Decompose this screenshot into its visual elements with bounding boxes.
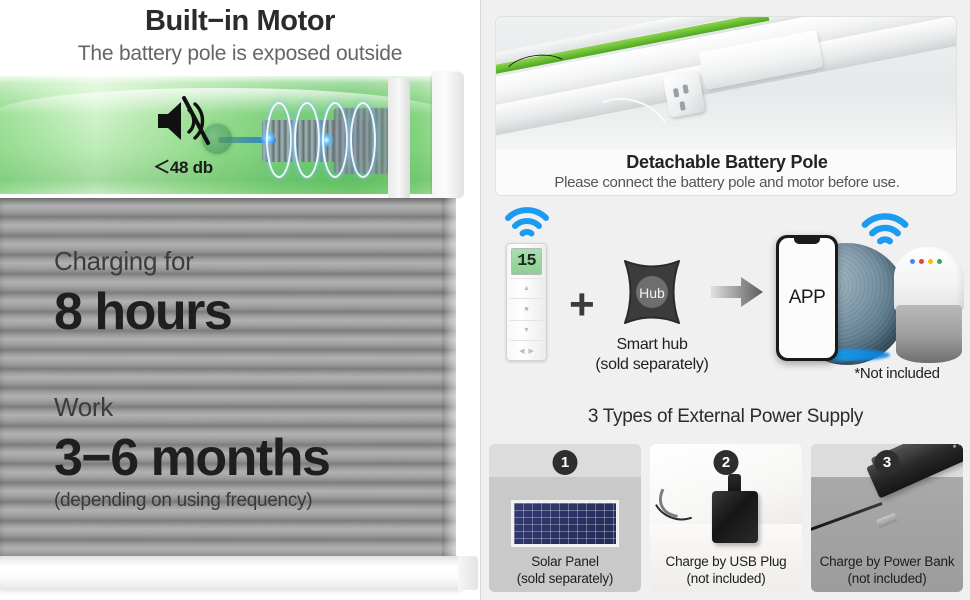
indicator-dot-green — [937, 259, 942, 264]
page-title: Built−in Motor — [0, 0, 480, 40]
smartphone: APP — [776, 235, 838, 361]
mute-speaker-icon — [154, 133, 212, 150]
work-label: Work — [54, 392, 113, 423]
arrow-right-icon — [711, 277, 763, 312]
power-bank-led — [953, 444, 957, 448]
remote-up-button[interactable]: ▲ — [510, 278, 543, 298]
app-label: APP — [789, 287, 826, 309]
remote-channel-value: 15 — [517, 252, 535, 271]
card-caption: Charge by Power Bank (not included) — [811, 553, 963, 587]
solar-panel-icon — [511, 500, 619, 547]
motor-tube-illustration: ＜48 db — [0, 72, 480, 200]
smart-hub-label-line2: (sold separately) — [577, 355, 727, 375]
left-header: Built−in Motor The battery pole is expos… — [0, 0, 480, 72]
work-duration-note: (depending on using frequency) — [54, 490, 312, 512]
wifi-icon — [504, 207, 550, 244]
noise-level-group: ＜48 db — [128, 96, 238, 178]
power-card-power-bank[interactable]: 3 Charge by Power Bank (not included) — [811, 444, 963, 592]
magnetic-coil-icon — [294, 102, 320, 178]
connector-port — [679, 101, 685, 111]
power-supply-cards: 1 Solar Panel (sold separately) 2 Charge… — [489, 444, 964, 592]
power-supply-heading: 3 Types of External Power Supply — [481, 406, 970, 428]
smart-hub-label: Smart hub (sold separately) — [577, 335, 727, 375]
card-caption: Solar Panel (sold separately) — [489, 553, 641, 587]
card-title: Charge by Power Bank — [811, 553, 963, 570]
charging-label: Charging for — [54, 246, 193, 277]
work-duration-value: 3−6 months — [54, 428, 329, 488]
remote-channel-buttons[interactable]: ◀ ▶ — [510, 340, 543, 360]
smart-hub-row: 15 ▲ ■ ▼ ◀ ▶ + Hub Smart hub (sold separ… — [481, 205, 970, 395]
wifi-icon — [860, 213, 910, 252]
card-title: Charge by USB Plug — [650, 553, 802, 570]
card-badge: 1 — [553, 450, 578, 475]
power-bank-led — [958, 444, 962, 446]
smart-speaker-google-home — [894, 247, 964, 363]
power-card-usb-plug[interactable]: 2 Charge by USB Plug (not included) — [650, 444, 802, 592]
phone-notch — [794, 238, 820, 244]
battery-pole-caption: Detachable Battery Pole Please connect t… — [496, 150, 957, 196]
connector-port — [673, 88, 679, 98]
tube-rail-right — [388, 78, 410, 200]
google-home-base — [896, 305, 962, 363]
connector-port — [682, 84, 688, 94]
battery-pole-title: Detachable Battery Pole — [496, 152, 957, 173]
smart-hub-label-line1: Smart hub — [577, 335, 727, 355]
page-subtitle: The battery pole is exposed outside — [0, 40, 480, 68]
bottom-rail-end-cap — [458, 556, 478, 590]
magnetic-coil-icon — [350, 102, 376, 178]
google-home-top — [894, 247, 964, 311]
smart-hub-icon: Hub — [613, 255, 691, 329]
card-badge: 3 — [875, 450, 900, 475]
noise-level-label: ＜48 db — [128, 153, 238, 178]
bottom-rail — [0, 556, 462, 590]
svg-text:Hub: Hub — [639, 285, 665, 301]
indicator-dot-red — [919, 259, 924, 264]
battery-pole-subtitle: Please connect the battery pole and moto… — [496, 174, 957, 191]
indicator-dot-yellow — [928, 259, 933, 264]
usb-plug-adapter — [712, 491, 758, 543]
remote-lcd-display: 15 — [511, 248, 542, 275]
plus-symbol: + — [569, 283, 595, 327]
indicator-dot-blue — [910, 259, 915, 264]
card-badge: 2 — [714, 450, 739, 475]
magnetic-coil-icon — [266, 102, 292, 178]
card-note: (not included) — [650, 570, 802, 587]
remote-down-button[interactable]: ▼ — [510, 320, 543, 340]
devices-note: *Not included — [822, 365, 970, 382]
card-caption: Charge by USB Plug (not included) — [650, 553, 802, 587]
remote-stop-button[interactable]: ■ — [510, 298, 543, 320]
battery-connector-box — [663, 70, 706, 118]
charging-value: 8 hours — [54, 282, 231, 342]
card-title: Solar Panel — [489, 553, 641, 570]
left-panel: Built−in Motor The battery pole is expos… — [0, 0, 480, 600]
power-card-solar-panel[interactable]: 1 Solar Panel (sold separately) — [489, 444, 641, 592]
fabric-right-edge — [442, 198, 456, 562]
card-note: (not included) — [811, 570, 963, 587]
battery-pole-photo — [496, 17, 957, 150]
smart-devices-group: APP *Not included — [776, 213, 966, 388]
phone-screen: APP — [779, 238, 835, 358]
infographic-page: Built−in Motor The battery pole is expos… — [0, 0, 970, 600]
tube-end-cap — [432, 72, 464, 198]
motor-internals — [214, 94, 394, 186]
card-note: (sold separately) — [489, 570, 641, 587]
remote-control[interactable]: 15 ▲ ■ ▼ ◀ ▶ — [506, 243, 547, 361]
right-panel: Detachable Battery Pole Please connect t… — [481, 0, 970, 600]
magnetic-coil-icon — [322, 102, 348, 178]
battery-pole-card: Detachable Battery Pole Please connect t… — [495, 16, 957, 196]
